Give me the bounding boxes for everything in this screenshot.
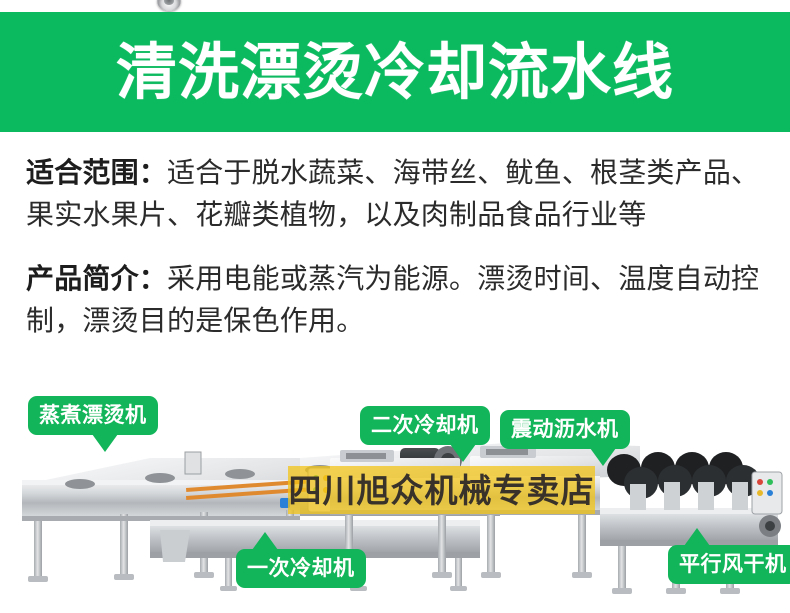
description-block: 适合范围：适合于脱水蔬菜、海带丝、鱿鱼、根茎类产品、果实水果片、花瓣类植物，以及… <box>26 152 768 342</box>
page-title: 清洗漂烫冷却流水线 <box>116 42 674 103</box>
metal-bolt-icon <box>157 0 181 11</box>
callout-pointer-icon <box>684 528 710 546</box>
top-strip <box>0 0 790 12</box>
paragraph-intro: 产品简介：采用电能或蒸汽为能源。漂烫时间、温度自动控制，漂烫目的是保色作用。 <box>26 258 768 342</box>
callout-parallel-air-dryer: 平行风干机 <box>668 545 790 584</box>
title-banner: 清洗漂烫冷却流水线 <box>0 12 790 132</box>
paragraph-scope: 适合范围：适合于脱水蔬菜、海带丝、鱿鱼、根茎类产品、果实水果片、花瓣类植物，以及… <box>26 152 768 236</box>
callout-vibration-drainer: 震动沥水机 <box>500 410 630 449</box>
callout-second-cooling-machine: 二次冷却机 <box>360 406 490 445</box>
product-detail-page: 清洗漂烫冷却流水线 适合范围：适合于脱水蔬菜、海带丝、鱿鱼、根茎类产品、果实水果… <box>0 0 790 613</box>
paragraph-intro-lead: 产品简介： <box>26 263 167 294</box>
callout-pointer-icon <box>92 434 118 452</box>
callout-blanching-machine: 蒸煮漂烫机 <box>28 396 158 435</box>
callout-label: 震动沥水机 <box>511 419 619 440</box>
paragraph-scope-lead: 适合范围： <box>26 157 167 188</box>
callout-label: 一次冷却机 <box>247 558 355 579</box>
callout-label: 蒸煮漂烫机 <box>39 405 147 426</box>
shop-watermark-text: 四川旭众机械专卖店 <box>289 474 595 507</box>
callout-first-cooling-machine: 一次冷却机 <box>236 549 366 588</box>
callout-pointer-icon <box>252 532 278 550</box>
callout-pointer-icon <box>590 448 616 466</box>
callout-label: 平行风干机 <box>679 554 787 575</box>
shop-watermark: 四川旭众机械专卖店 <box>288 466 595 514</box>
callout-label: 二次冷却机 <box>371 415 479 436</box>
callout-pointer-icon <box>450 444 476 462</box>
